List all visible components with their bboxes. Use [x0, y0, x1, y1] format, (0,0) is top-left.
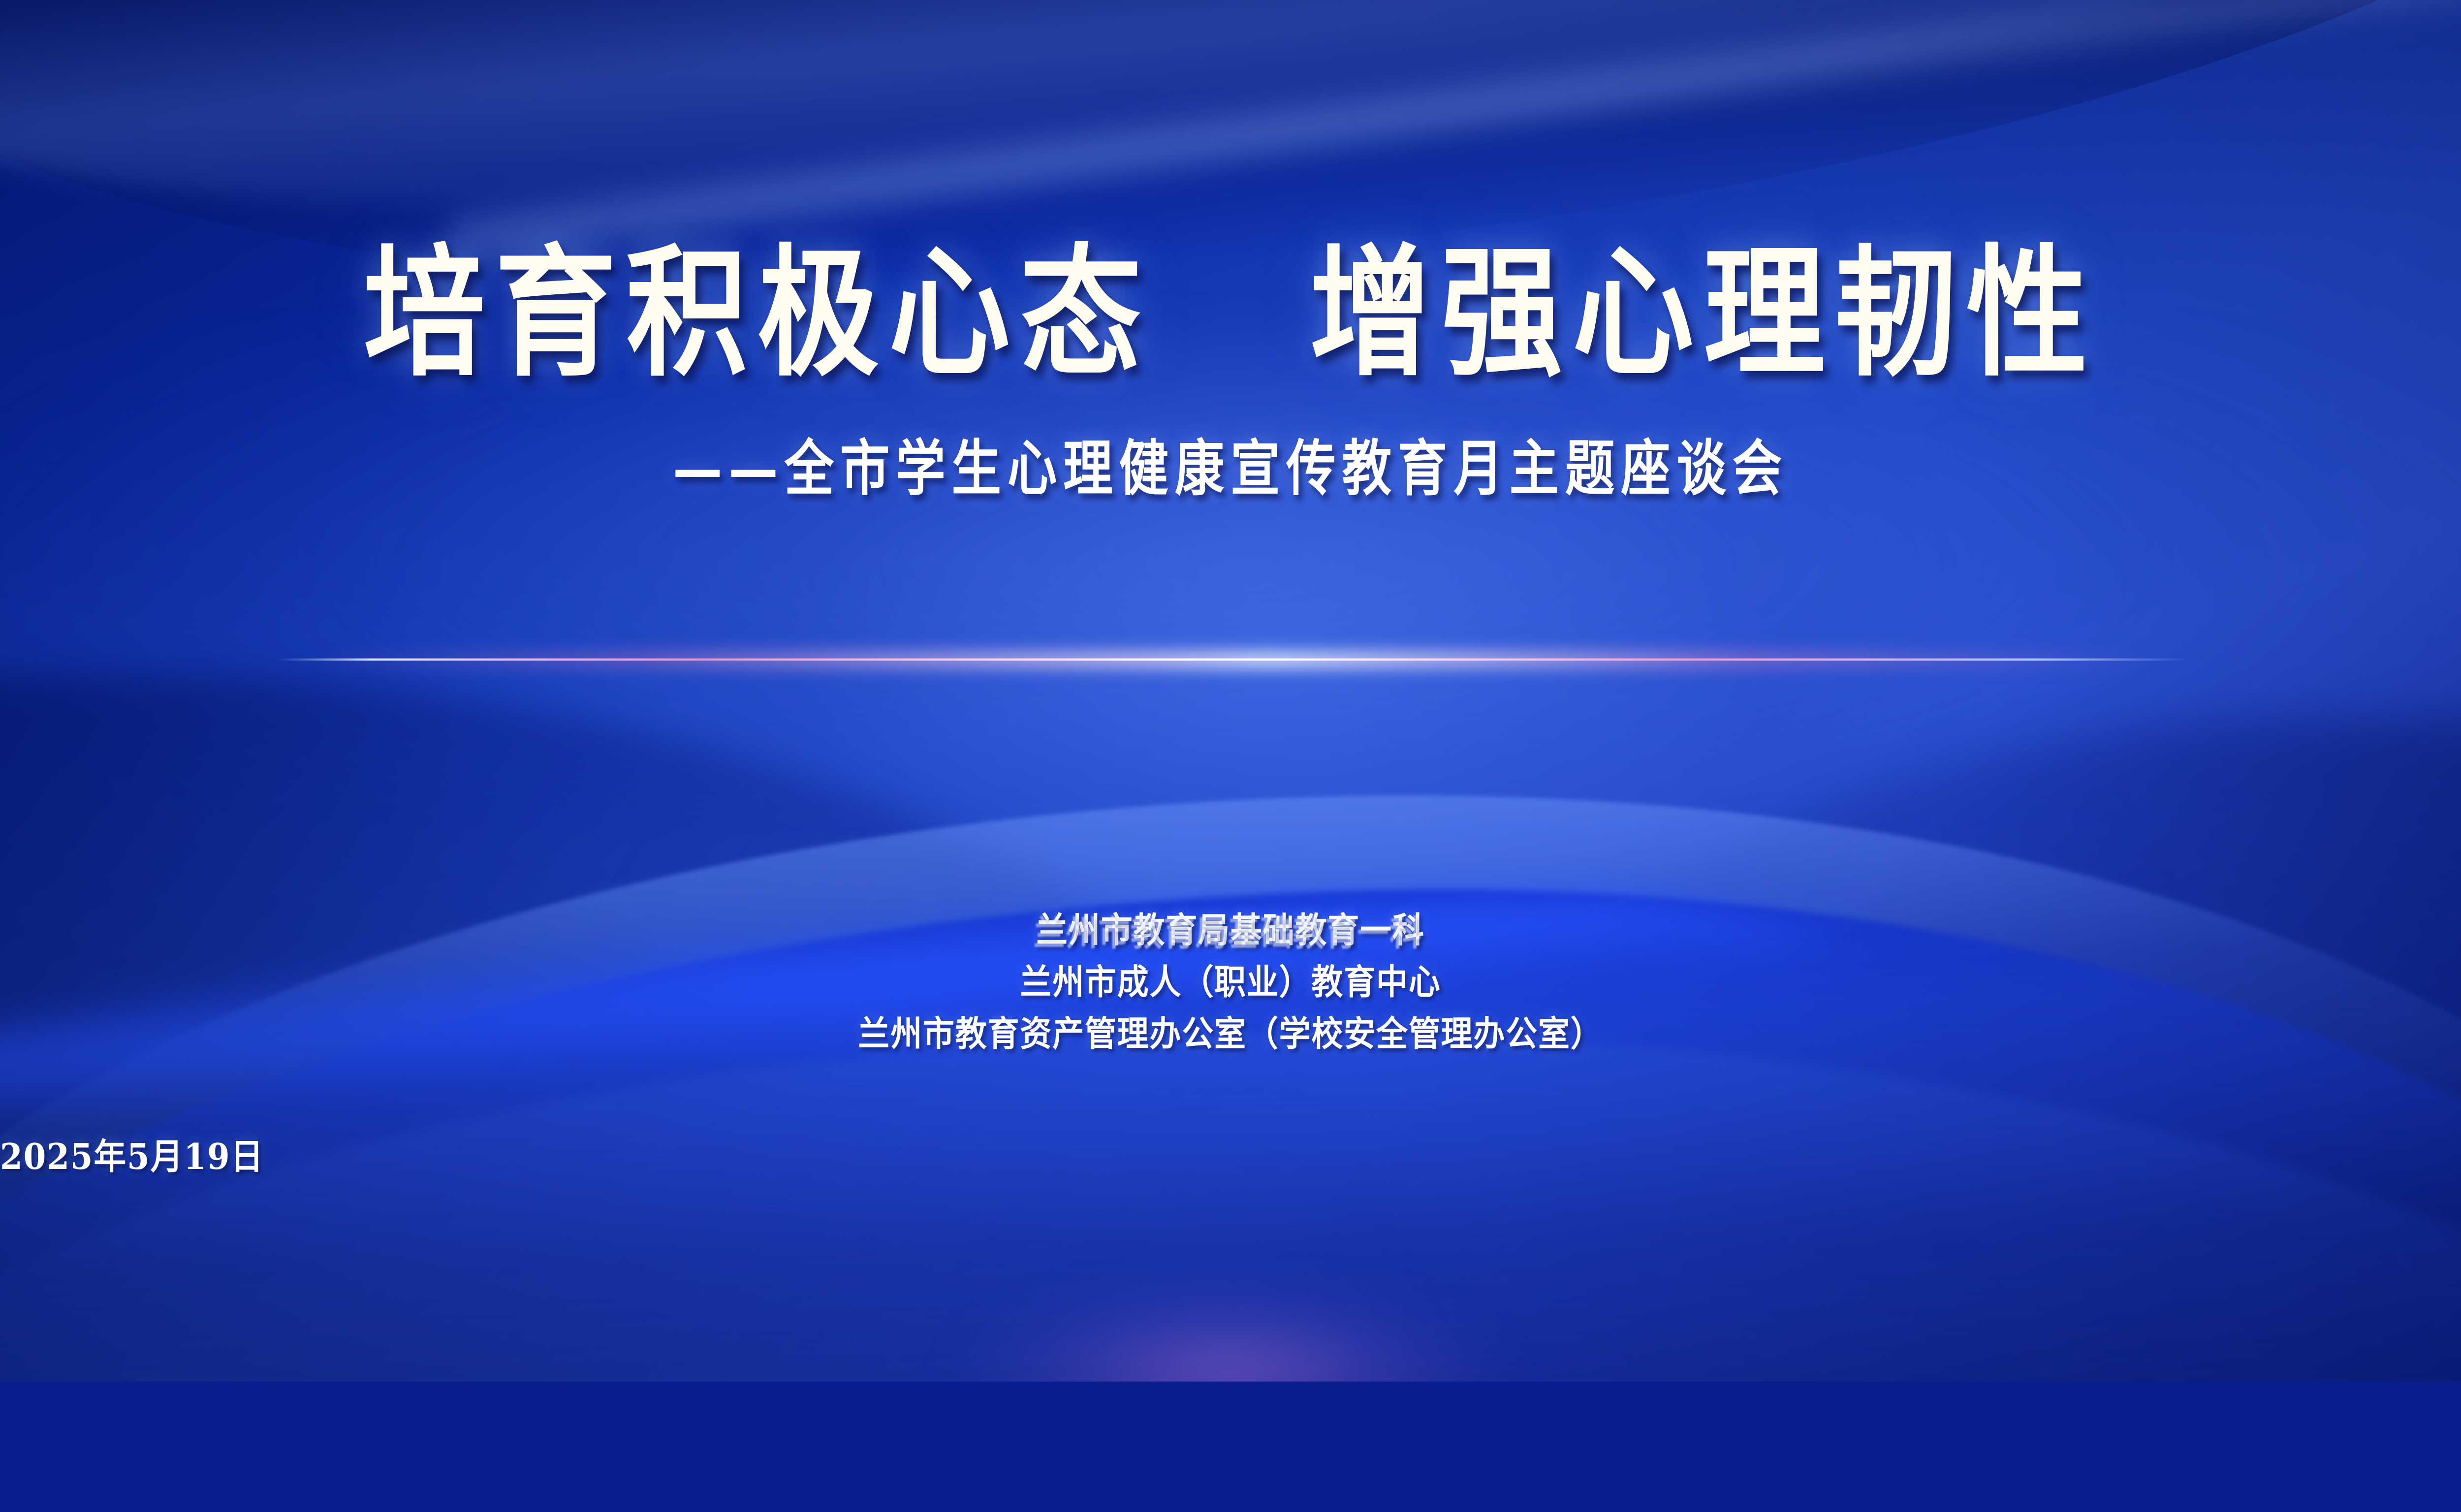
organizer-line-1: 兰州市教育局基础教育一科 兰州市教育局基础教育一科 — [1036, 903, 1424, 953]
organizer-list: 兰州市教育局基础教育一科 兰州市教育局基础教育一科 兰州市成人（职业）教育中心 … — [0, 905, 2461, 1053]
organizer-line-3: 兰州市教育资产管理办公室（学校安全管理办公室） — [858, 1006, 1603, 1056]
subtitle: ——全市学生心理健康宣传教育月主题座谈会 — [673, 419, 1788, 507]
presentation-backdrop: 培育积极心态 增强心理韧性 ——全市学生心理健康宣传教育月主题座谈会 兰州市教育… — [0, 0, 2461, 1382]
main-title: 培育积极心态 增强心理韧性 — [363, 242, 2097, 383]
organizer-line-2: 兰州市成人（职业）教育中心 — [1020, 954, 1441, 1005]
main-title-left: 培育积极心态 — [363, 230, 1151, 396]
organizer-line-1-ghost: 兰州市教育局基础教育一科 — [1034, 906, 1422, 956]
main-title-right: 增强心理韧性 — [1310, 230, 2098, 396]
event-date: 2025年5月19日 — [0, 1128, 2461, 1180]
